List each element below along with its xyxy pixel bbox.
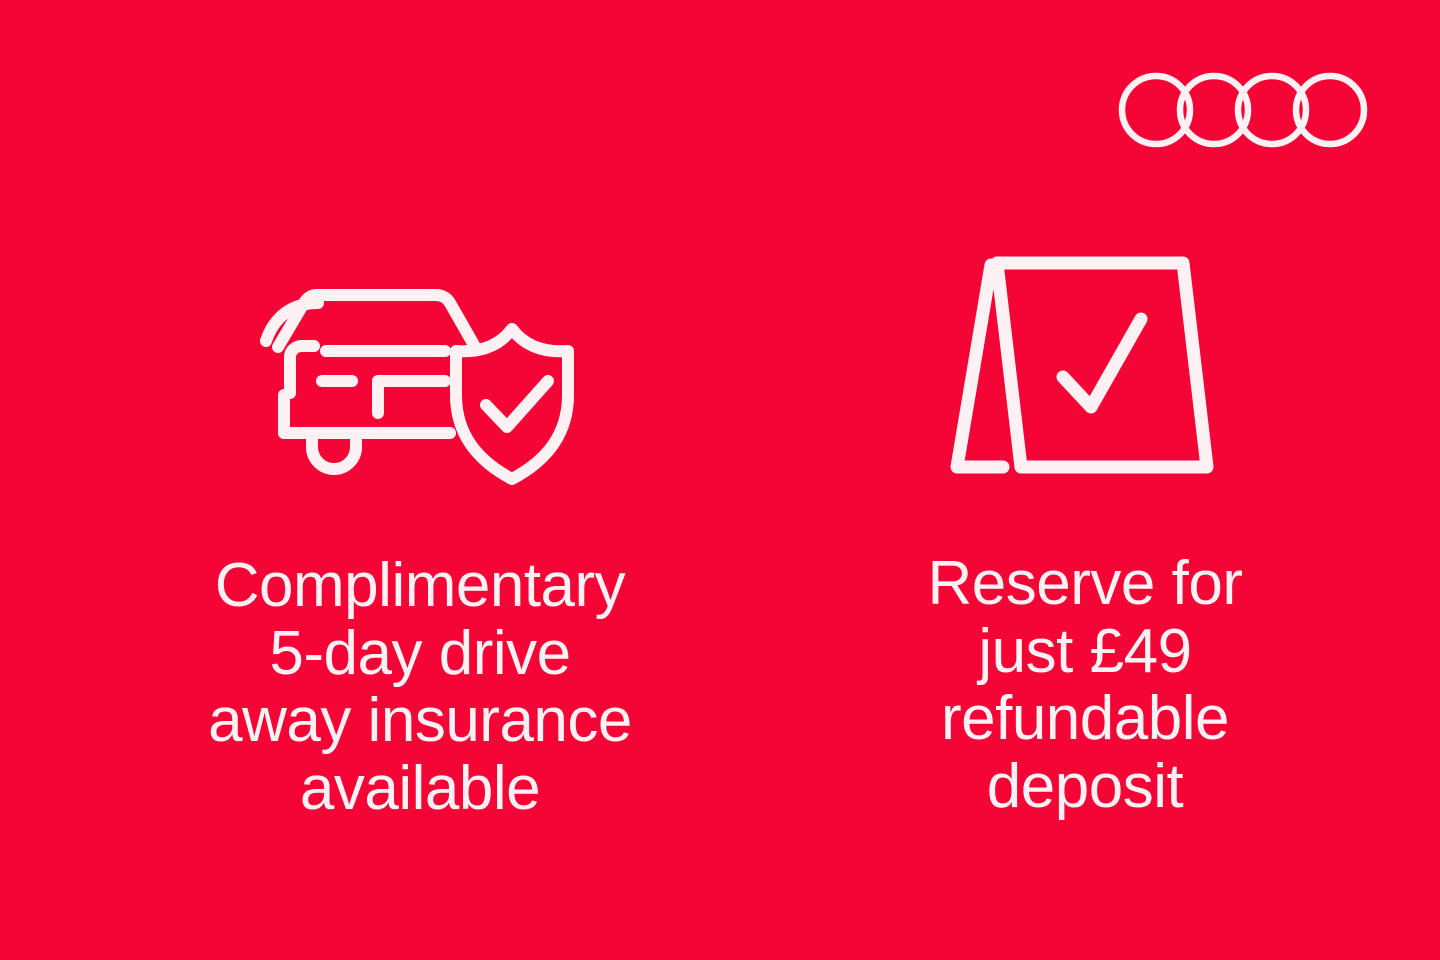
feature-insurance: Complimentary 5-day drive away insurance… <box>113 240 727 822</box>
feature-insurance-label: Complimentary 5-day drive away insurance… <box>208 552 632 822</box>
car-shield-icon <box>260 240 580 490</box>
feature-deposit-label: Reserve for just £49 refundable deposit <box>928 550 1243 820</box>
tent-card-check-icon <box>945 240 1225 490</box>
promo-banner: Complimentary 5-day drive away insurance… <box>0 0 1440 960</box>
feature-deposit: Reserve for just £49 refundable deposit <box>830 240 1340 820</box>
feature-list: Complimentary 5-day drive away insurance… <box>0 0 1440 960</box>
